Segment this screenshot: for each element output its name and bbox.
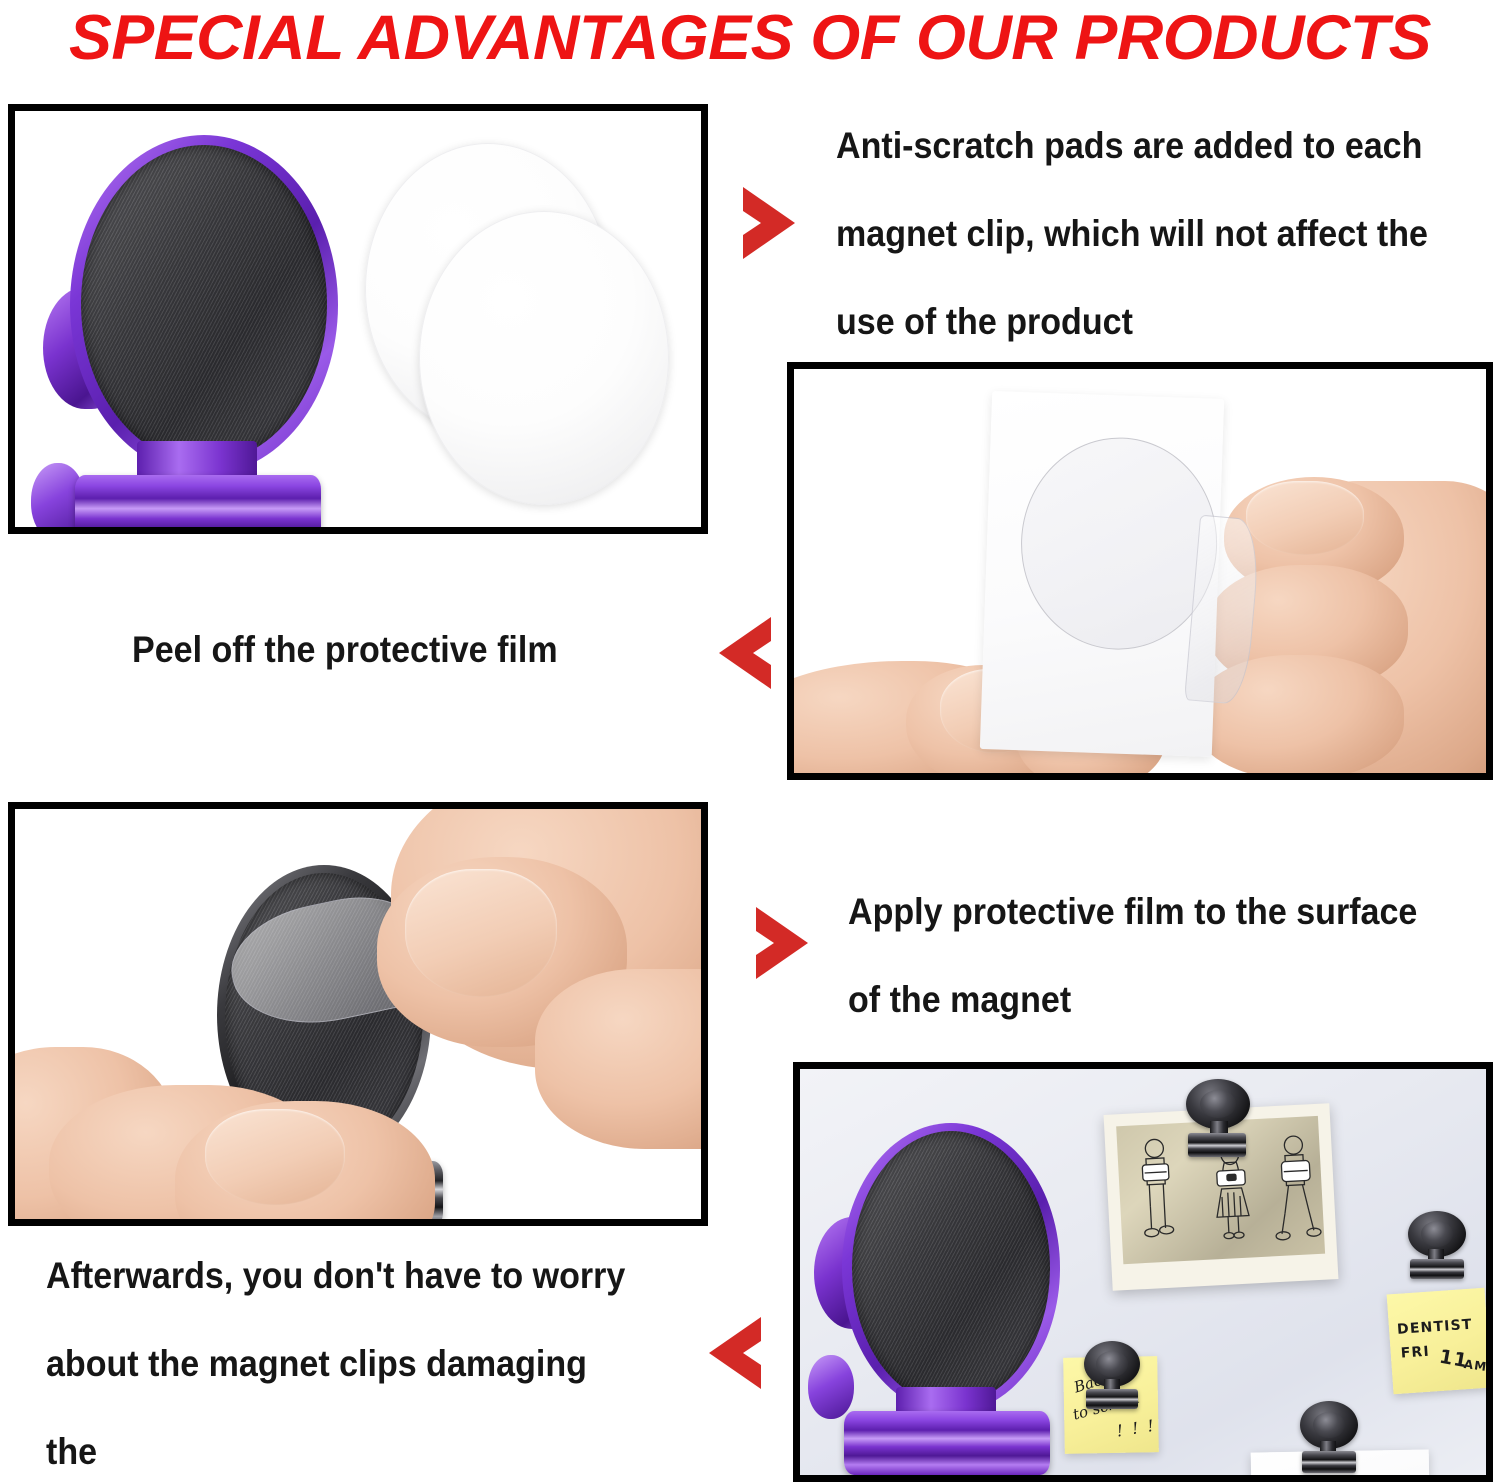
step-3-image-panel — [8, 802, 708, 1226]
shopping-list-col-left: EGGS FLOUR BUTTER COCOA CHOCOLATE CREAM … — [1261, 1479, 1348, 1482]
step-3-caption: Apply protective film to the surface of … — [848, 868, 1455, 1044]
sticky-school-line3: ! ! ! — [1115, 1416, 1157, 1441]
caption-line: Afterwards, you don't have to worry — [46, 1232, 635, 1320]
step-2-caption: Peel off the protective film — [132, 606, 647, 694]
step-1-image-panel — [8, 104, 708, 534]
top-thumb-nail — [405, 869, 557, 997]
kid-figure-right — [1269, 1132, 1325, 1247]
black-clip-dentist-body — [1410, 1259, 1464, 1279]
purple-clip-scene — [15, 111, 701, 527]
caption-line: Apply protective film to the surface — [848, 868, 1455, 956]
black-clip-school-body — [1086, 1389, 1138, 1409]
peel-film-scene — [794, 369, 1486, 773]
clip-body — [75, 475, 321, 534]
arrow-left-icon-step-4 — [705, 1315, 765, 1391]
infographic-root: SPECIAL ADVANTAGES OF OUR PRODUCTS — [0, 0, 1500, 1484]
sticky-dentist-line2: FRI — [1400, 1344, 1430, 1362]
caption-line: about the magnet clips damaging the — [46, 1320, 635, 1484]
anti-scratch-pad-front — [419, 211, 669, 505]
caption-line: of the magnet — [848, 956, 1455, 1044]
page-title: SPECIAL ADVANTAGES OF OUR PRODUCTS — [0, 2, 1500, 74]
sticky-dentist-line1: DENTIST — [1397, 1317, 1474, 1338]
fridge-door-scene: Back to school ! ! ! DENTIST FRI 11 AM — [800, 1069, 1486, 1475]
fridge-clip-cap — [808, 1355, 854, 1419]
fridge-clip-body — [844, 1411, 1050, 1475]
fridge-disc-face — [852, 1131, 1050, 1405]
list-item: EGGS — [1261, 1479, 1346, 1482]
step-4-image-panel: Back to school ! ! ! DENTIST FRI 11 AM — [793, 1062, 1493, 1482]
kid-figure-left — [1131, 1135, 1183, 1249]
step-2-image-panel — [787, 362, 1493, 780]
step-4-caption: Afterwards, you don't have to worry abou… — [46, 1232, 635, 1484]
caption-line: Peel off the protective film — [132, 606, 647, 694]
caption-line: use of the product — [836, 278, 1462, 366]
black-clip-photo-body — [1188, 1133, 1246, 1157]
sticky-dentist-line4: AM — [1463, 1357, 1488, 1374]
caption-line: Anti-scratch pads are added to each — [836, 102, 1462, 190]
shopping-list-col-right: FLOWERS BULB RIBBON — [1345, 1478, 1414, 1482]
protective-film-backing — [980, 391, 1224, 757]
magnet-disc-face — [81, 145, 327, 463]
apply-film-scene — [15, 809, 701, 1219]
step-1-caption: Anti-scratch pads are added to each magn… — [836, 102, 1462, 366]
arrow-left-icon-step-2 — [715, 615, 775, 691]
arrow-right-icon-step-1 — [739, 185, 799, 261]
right-index-nail — [1246, 481, 1364, 555]
caption-line: magnet clip, which will not affect the — [836, 190, 1462, 278]
bottom-thumb-nail — [205, 1109, 345, 1205]
black-clip-list-body — [1302, 1451, 1356, 1473]
top-hand-knuckles — [535, 969, 708, 1149]
list-item: FLOWERS — [1345, 1478, 1413, 1482]
arrow-right-icon-step-3 — [752, 905, 812, 981]
sticky-note-dentist: DENTIST FRI 11 AM — [1387, 1288, 1492, 1395]
